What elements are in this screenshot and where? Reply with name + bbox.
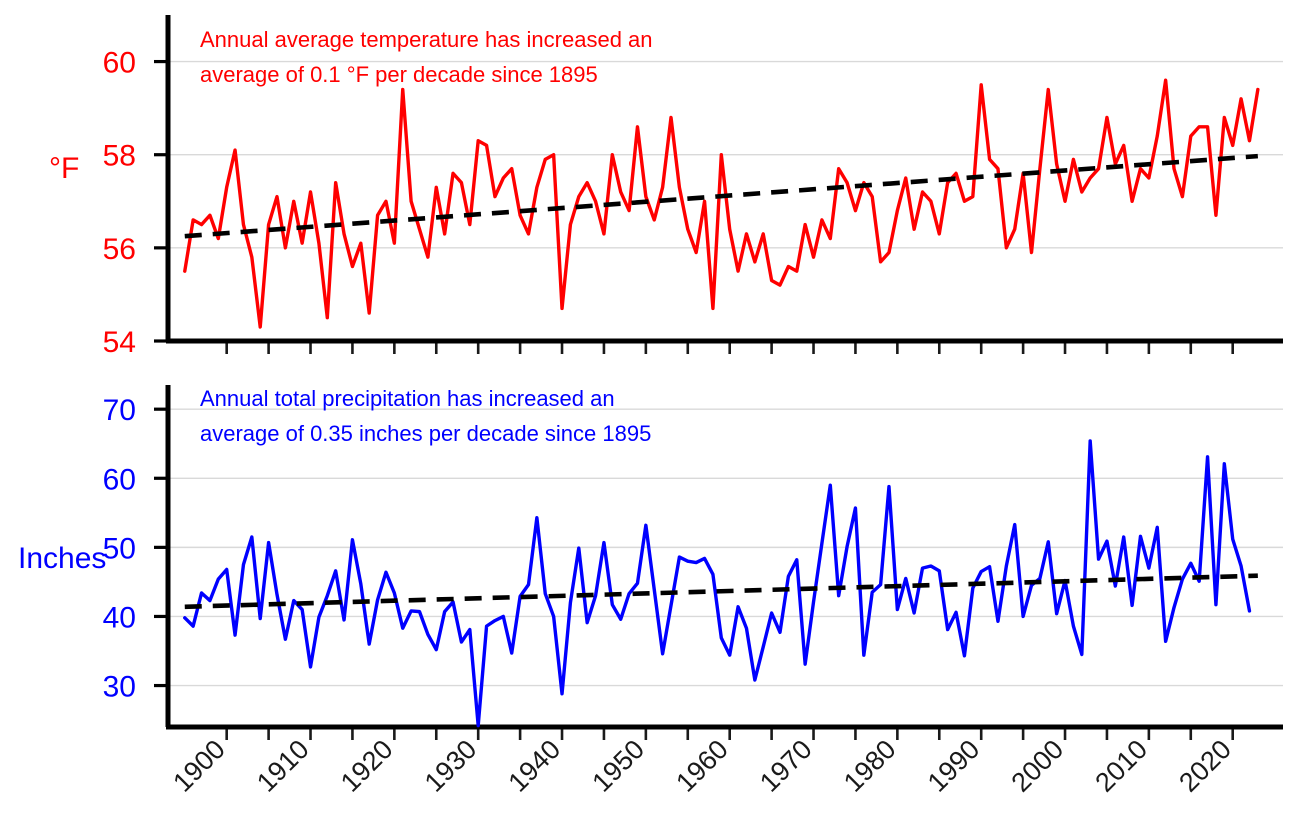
precipitation-panel: 3040506070 Inches Annual total precipita…: [18, 385, 1283, 740]
y-tick-label: 58: [103, 140, 136, 173]
x-tick-label: 2020: [1173, 734, 1237, 798]
y-tick-label: 40: [103, 601, 136, 634]
precipitation-axis-title: Inches: [18, 542, 106, 575]
x-tick-label: 1910: [251, 734, 315, 798]
x-tick-label: 1980: [838, 734, 902, 798]
climate-chart-svg: 54565860 °F Annual average temperature h…: [0, 0, 1300, 827]
x-tick-label: 1990: [922, 734, 986, 798]
precipitation-annotation-line2: average of 0.35 inches per decade since …: [200, 421, 651, 446]
y-tick-label: 56: [103, 233, 136, 266]
y-tick-label: 60: [103, 47, 136, 80]
temperature-annotation-line2: average of 0.1 °F per decade since 1895: [200, 62, 598, 87]
temperature-annotation-line1: Annual average temperature has increased…: [200, 27, 653, 52]
precipitation-y-tick-labels: 3040506070: [103, 394, 136, 703]
precipitation-annotation-line1: Annual total precipitation has increased…: [200, 386, 615, 411]
x-tick-label: 1900: [167, 734, 231, 798]
y-tick-label: 54: [103, 326, 136, 359]
y-tick-label: 50: [103, 532, 136, 565]
x-tick-label: 1920: [335, 734, 399, 798]
temperature-panel: 54565860 °F Annual average temperature h…: [49, 15, 1283, 359]
x-tick-label: 2010: [1089, 734, 1153, 798]
y-tick-label: 30: [103, 671, 136, 704]
y-tick-label: 70: [103, 394, 136, 427]
y-tick-label: 60: [103, 463, 136, 496]
precipitation-series-line: [185, 441, 1250, 726]
x-tick-label: 2000: [1006, 734, 1070, 798]
temperature-x-tickmarks: [227, 343, 1233, 354]
x-axis-tick-labels: 1900191019201930194019501960197019801990…: [167, 734, 1237, 798]
temperature-axis-title: °F: [49, 152, 79, 185]
x-tick-label: 1940: [503, 734, 567, 798]
x-tick-label: 1930: [419, 734, 483, 798]
x-tick-label: 1960: [670, 734, 734, 798]
climate-figure: 54565860 °F Annual average temperature h…: [0, 0, 1300, 827]
temperature-series-line: [185, 80, 1258, 327]
temperature-y-tick-labels: 54565860: [103, 47, 136, 359]
x-tick-label: 1970: [754, 734, 818, 798]
x-tick-label: 1950: [586, 734, 650, 798]
